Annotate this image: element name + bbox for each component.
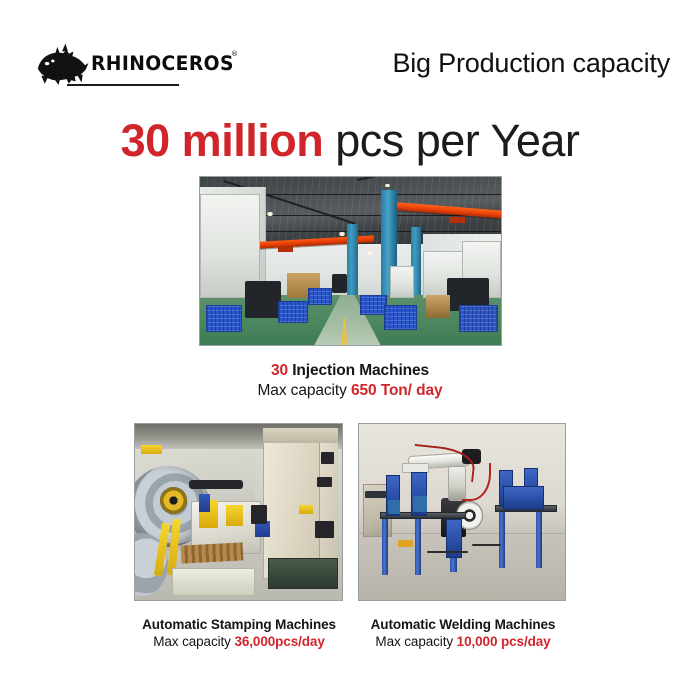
photo-welding-machine xyxy=(358,423,566,601)
coil-hub xyxy=(160,487,187,513)
caption-stamping-cap-label: Max capacity xyxy=(153,634,234,649)
registered-mark-icon: ® xyxy=(231,50,238,58)
wall-sign-yellow xyxy=(141,445,162,454)
table-leg-4 xyxy=(499,512,505,568)
logo-subtext xyxy=(71,86,179,93)
feeder-roller-bar xyxy=(189,480,243,489)
blue-crate-2 xyxy=(278,301,308,323)
table-leg-2 xyxy=(415,519,421,575)
headline: 30 million pcs per Year xyxy=(0,113,700,169)
press-panel-2 xyxy=(317,477,331,488)
press-panel-3 xyxy=(315,521,334,539)
steel-column-mid xyxy=(347,224,357,298)
logo-wordmark: RHINOCEROS xyxy=(91,52,234,75)
yellow-control-box xyxy=(398,540,412,547)
floor-cable xyxy=(472,544,501,546)
caption-welding-cap-label: Max capacity xyxy=(375,634,456,649)
table-leg-5 xyxy=(536,512,542,568)
ceiling-lamp-1 xyxy=(266,212,274,216)
table-leg-1 xyxy=(382,519,388,575)
caption-stamping-line2: Max capacity 36,000pcs/day xyxy=(124,634,354,649)
equipment-small xyxy=(332,274,347,292)
blue-crate-4 xyxy=(360,295,387,315)
caption-injection-line2: Max capacity 650 Ton/ day xyxy=(0,382,700,400)
caption-injection-count: 30 xyxy=(271,362,288,379)
brand-logo: RHINOCEROS ® xyxy=(33,40,213,92)
ceiling-lamp-4 xyxy=(366,251,374,255)
caption-stamping: Automatic Stamping Machines Max capacity… xyxy=(124,617,354,649)
photo-stamping-machine xyxy=(134,423,343,601)
machine-dark-unit xyxy=(245,281,281,318)
caption-injection-cap-value: 650 Ton/ day xyxy=(351,382,443,399)
press-crown xyxy=(263,428,338,444)
floor-cable-2 xyxy=(427,551,468,553)
clamp-head-2 xyxy=(413,496,427,512)
parts-cart xyxy=(268,558,338,590)
promo-banner: RHINOCEROS ® Big Production capacity 30 … xyxy=(0,0,700,700)
press-label-yellow xyxy=(299,505,313,514)
caption-welding-cap-value: 10,000 pcs/day xyxy=(457,634,551,649)
blue-crate-5 xyxy=(384,305,417,330)
caption-injection-line1: 30 Injection Machines xyxy=(0,362,700,380)
blue-crate-3 xyxy=(308,288,332,305)
caption-welding-line2: Max capacity 10,000 pcs/day xyxy=(348,634,578,649)
crane-hoist-right xyxy=(450,217,465,223)
fixture-body-right xyxy=(503,486,544,511)
feeder-guard-yellow-2 xyxy=(226,505,243,526)
blue-crate-1 xyxy=(206,305,242,332)
machine-base xyxy=(172,568,255,596)
photo-injection-factory xyxy=(199,176,502,346)
caption-injection-label: Injection Machines xyxy=(288,362,429,379)
headline-highlight: 30 million xyxy=(121,115,324,166)
blue-crate-6 xyxy=(459,305,498,332)
caption-injection: 30 Injection Machines Max capacity 650 T… xyxy=(0,362,700,400)
control-cabinet xyxy=(390,266,414,298)
hmi-screen xyxy=(251,505,268,524)
clamp-head-1 xyxy=(388,500,400,514)
carton-stack xyxy=(426,295,450,319)
caption-welding-line1: Automatic Welding Machines xyxy=(348,617,578,632)
caption-stamping-line1: Automatic Stamping Machines xyxy=(124,617,354,632)
page-title: Big Production capacity xyxy=(392,48,670,79)
wood-beams xyxy=(180,542,243,563)
rhinoceros-icon xyxy=(33,40,91,86)
crane-hoist-left xyxy=(278,246,293,252)
caption-stamping-cap-value: 36,000pcs/day xyxy=(234,634,324,649)
header: RHINOCEROS ® Big Production capacity xyxy=(0,0,700,110)
caption-welding: Automatic Welding Machines Max capacity … xyxy=(348,617,578,649)
caption-injection-cap-label: Max capacity xyxy=(257,382,350,399)
feeder-motor-blue xyxy=(199,494,209,512)
press-panel-1 xyxy=(321,452,333,464)
headline-rest: pcs per Year xyxy=(323,115,579,166)
cabinet-label xyxy=(365,491,386,498)
